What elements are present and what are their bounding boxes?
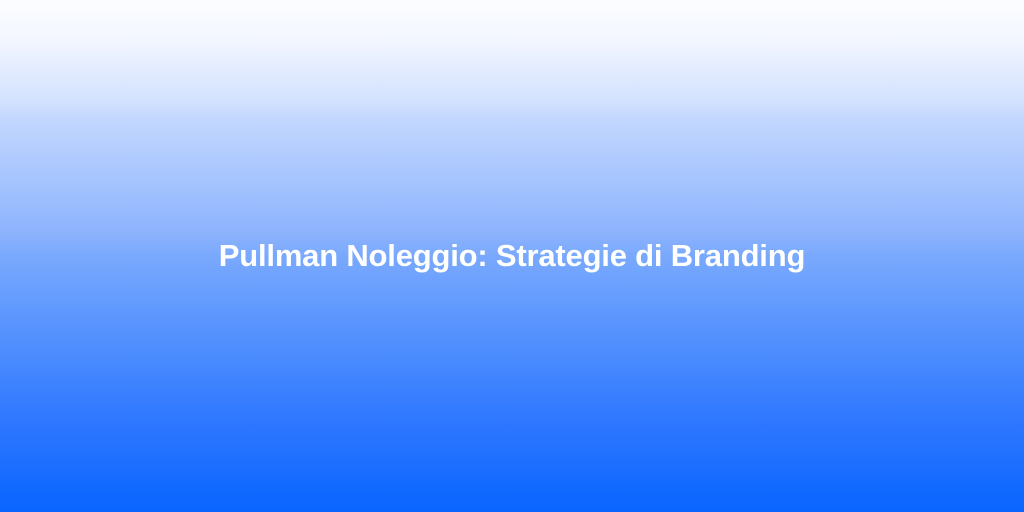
hero-banner: Pullman Noleggio: Strategie di Branding	[0, 0, 1024, 512]
hero-content: Pullman Noleggio: Strategie di Branding	[0, 237, 1024, 276]
page-title: Pullman Noleggio: Strategie di Branding	[40, 237, 984, 276]
